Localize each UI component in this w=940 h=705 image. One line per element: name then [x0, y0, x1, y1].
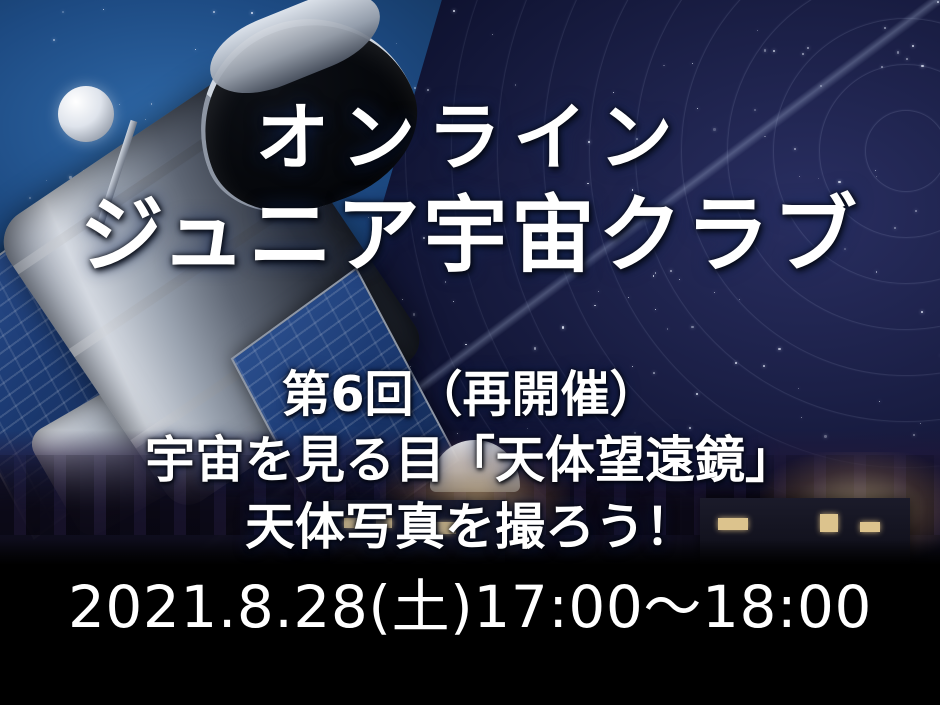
title-line-2: ジュニア宇宙クラブ	[0, 168, 940, 289]
subtitle-line-2: 宇宙を見る目「天体望遠鏡」	[0, 420, 940, 492]
event-datetime: 2021.8.28(土)17:00〜18:00	[0, 560, 940, 644]
subtitle-line-3: 天体写真を撮ろう！	[0, 487, 940, 559]
poster-image: オンライン ジュニア宇宙クラブ 第6回（再開催） 宇宙を見る目「天体望遠鏡」 天…	[0, 0, 940, 705]
subtitle-line-1: 第6回（再開催）	[0, 355, 940, 426]
text-overlay: オンライン ジュニア宇宙クラブ 第6回（再開催） 宇宙を見る目「天体望遠鏡」 天…	[0, 0, 940, 705]
